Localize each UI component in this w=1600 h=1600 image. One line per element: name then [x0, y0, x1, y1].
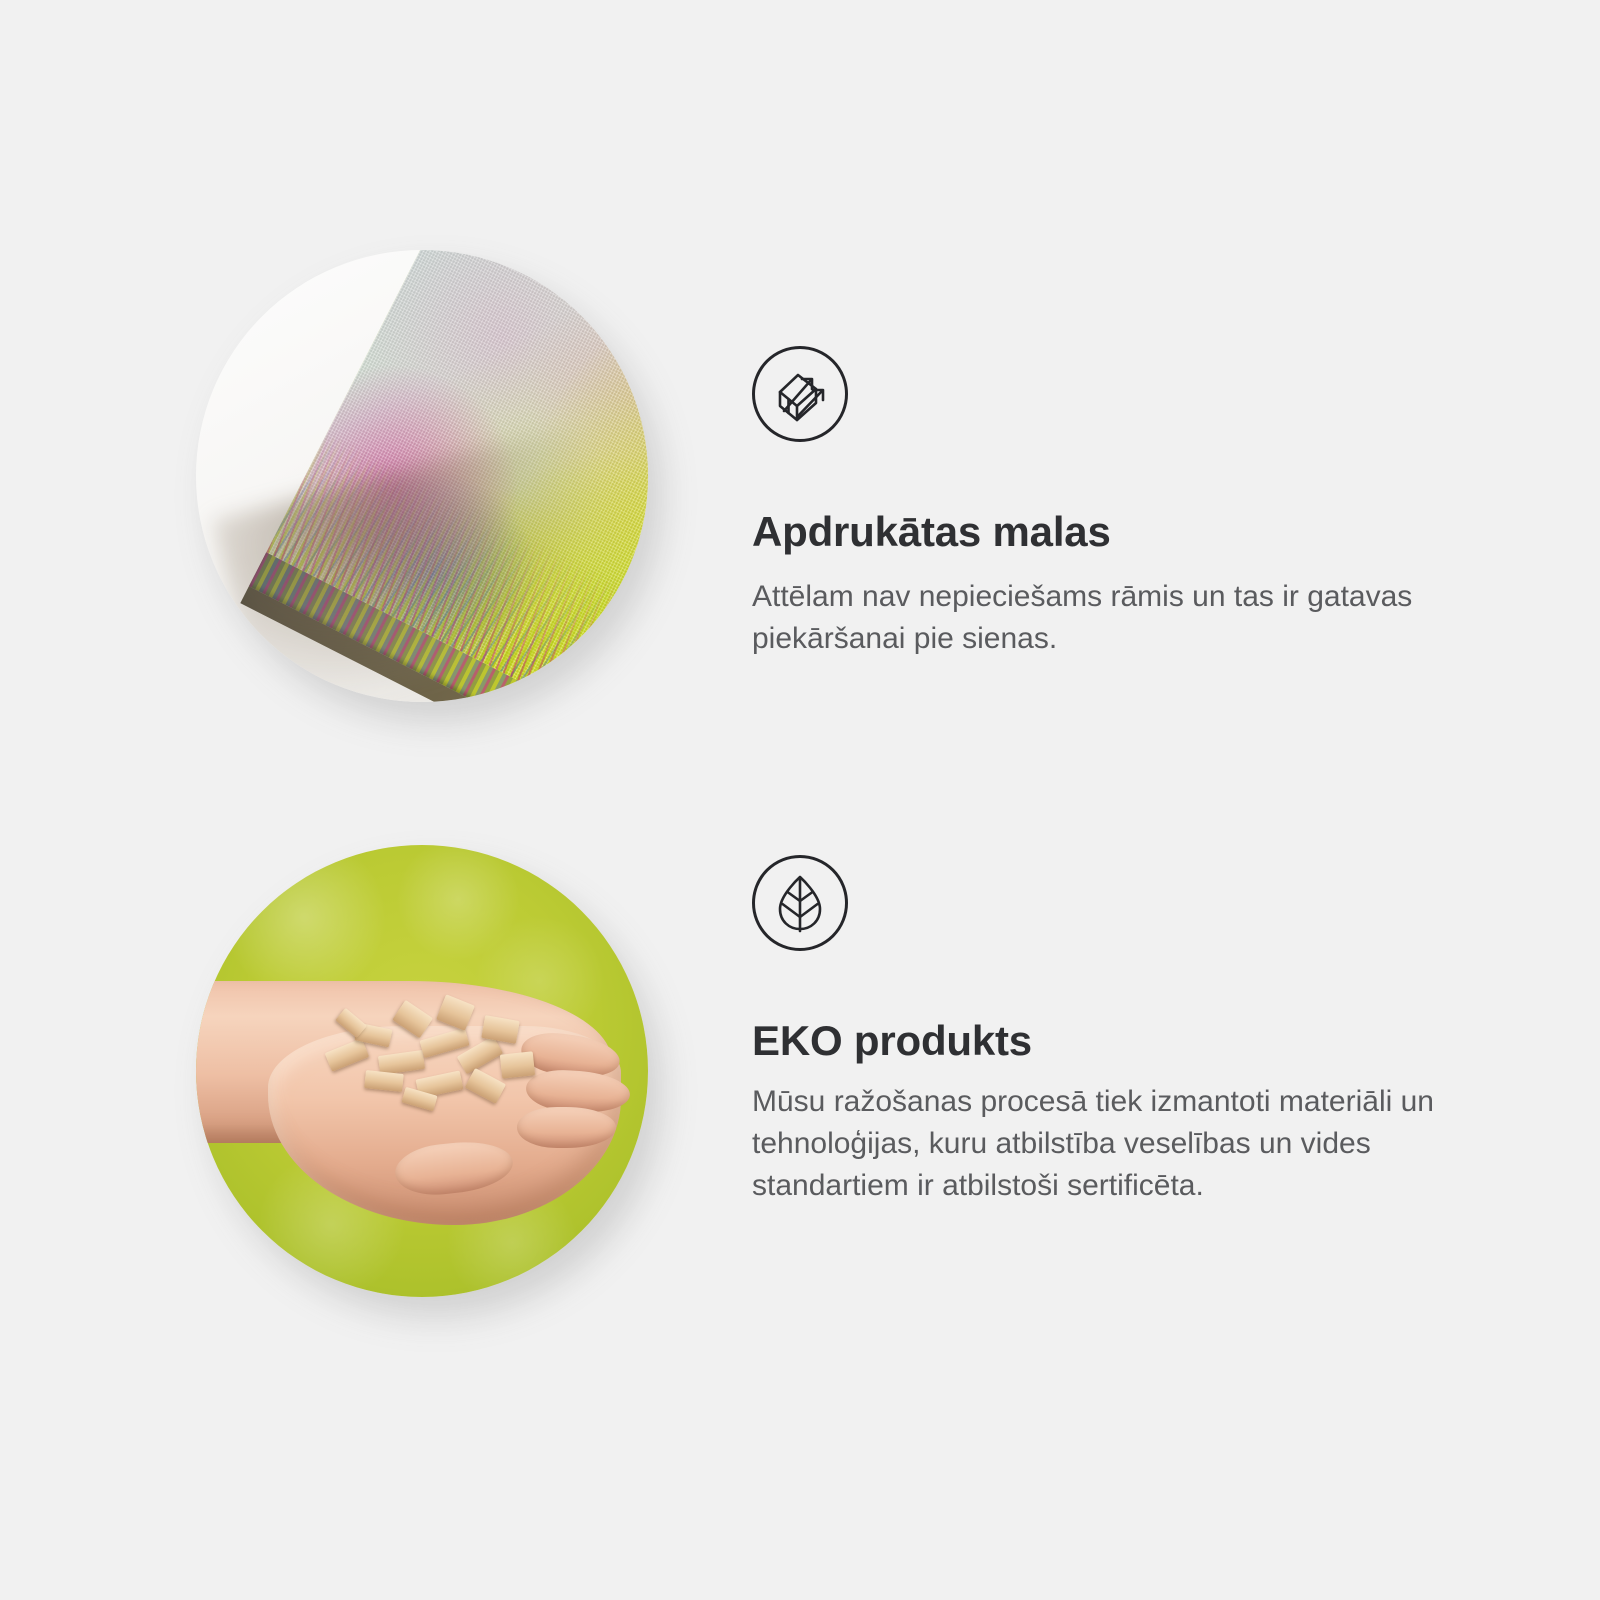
feature-eko-product: EKO produkts Mūsu ražošanas procesā tiek…	[0, 845, 1600, 1345]
wood-chips-pile	[318, 985, 553, 1121]
wood-chip	[392, 1000, 433, 1039]
feature-title: EKO produkts	[752, 1017, 1482, 1065]
circular-photo-hands-wood-chips	[196, 845, 648, 1297]
circular-photo-canvas-corner	[196, 250, 648, 702]
green-bokeh-background	[196, 845, 648, 1297]
feature-printed-edges: Apdrukātas malas Attēlam nav nepieciešam…	[0, 250, 1600, 770]
feature-title: Apdrukātas malas	[752, 508, 1482, 556]
features-page: Apdrukātas malas Attēlam nav nepieciešam…	[0, 0, 1600, 1600]
leaf-icon	[752, 855, 848, 951]
feature-text-printed-edges: Apdrukātas malas Attēlam nav nepieciešam…	[752, 346, 1482, 660]
wood-chip	[500, 1051, 535, 1079]
wood-chip	[436, 994, 474, 1031]
wood-chip	[465, 1068, 506, 1104]
feature-text-eko-product: EKO produkts Mūsu ražošanas procesā tiek…	[752, 855, 1482, 1207]
canvas-wrapped-edges-icon	[752, 346, 848, 442]
canvas-printed-face	[266, 250, 648, 702]
canvas-on-wall-scene	[196, 250, 648, 702]
wood-chip	[364, 1070, 403, 1091]
wood-chip	[325, 1038, 370, 1072]
canvas-print-block	[237, 250, 648, 702]
feature-description: Attēlam nav nepieciešams rāmis un tas ir…	[752, 576, 1472, 660]
feature-image-eko-product	[196, 845, 648, 1297]
feature-description: Mūsu ražošanas procesā tiek izmantoti ma…	[752, 1081, 1472, 1207]
feature-image-printed-edges	[196, 250, 648, 702]
